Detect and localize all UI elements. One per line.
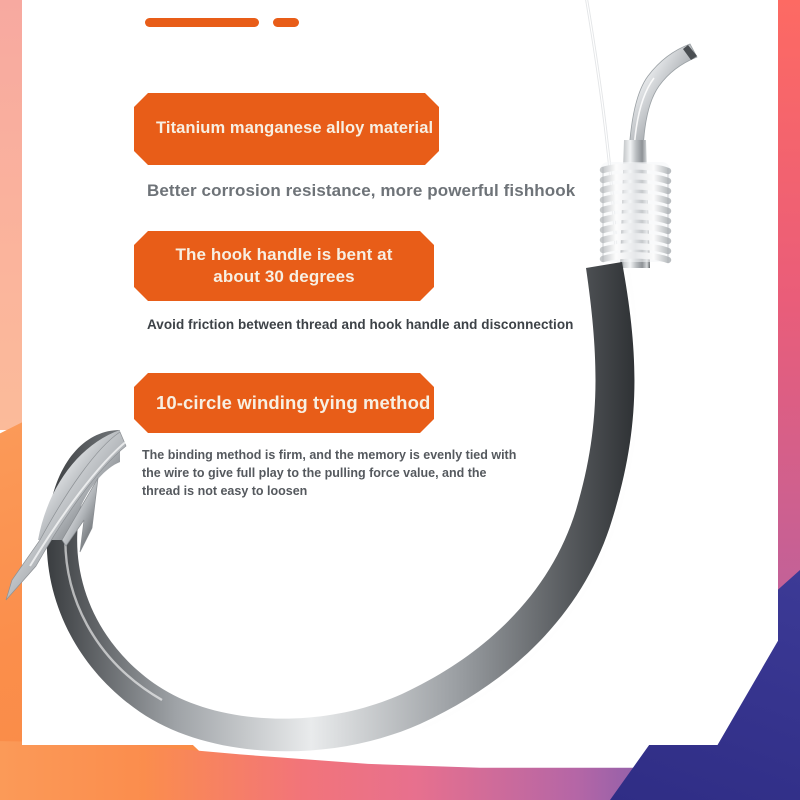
hook-bend xyxy=(47,262,638,751)
hook-barb xyxy=(62,478,98,552)
feature-item-winding: 10-circle winding tying method The bindi… xyxy=(134,373,522,500)
feature-caption-bend-angle: Avoid friction between thread and hook h… xyxy=(147,317,573,332)
left-edge-gradient-strip xyxy=(0,0,22,430)
feature-badge-bend-angle: The hook handle is bent at about 30 degr… xyxy=(134,231,434,301)
bottom-gradient-band xyxy=(0,705,800,800)
fishing-line xyxy=(585,0,616,250)
bottom-right-navy-wedge xyxy=(610,570,800,800)
accent-dash-long xyxy=(145,18,259,27)
feature-item-material: Titanium manganese alloy material Better… xyxy=(134,93,575,201)
feature-caption-winding: The binding method is firm, and the memo… xyxy=(142,447,522,500)
winding-coil xyxy=(600,162,670,263)
hook-shank xyxy=(620,140,650,268)
accent-dash-short xyxy=(273,18,299,27)
top-accent-dashes xyxy=(145,18,299,27)
feature-badge-material: Titanium manganese alloy material xyxy=(134,93,439,165)
feature-item-bend-angle: The hook handle is bent at about 30 degr… xyxy=(134,231,573,332)
bent-hook-handle xyxy=(629,44,697,152)
product-infographic-poster: Titanium manganese alloy material Better… xyxy=(0,0,800,800)
feature-badge-winding: 10-circle winding tying method xyxy=(134,373,434,433)
hook-point xyxy=(6,430,128,600)
right-edge-gradient-strip xyxy=(778,0,800,660)
feature-caption-material: Better corrosion resistance, more powerf… xyxy=(147,181,575,201)
